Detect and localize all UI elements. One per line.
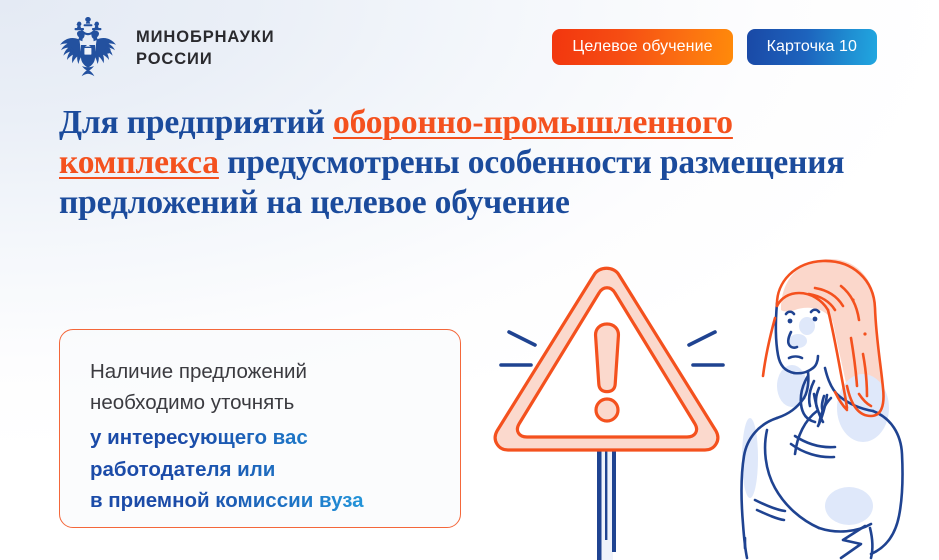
warning-triangle-sign-icon	[487, 252, 737, 560]
russian-coat-of-arms-icon	[55, 17, 121, 79]
badge-card-number[interactable]: Карточка 10	[747, 29, 877, 65]
slide-root: МИНОБРНАУКИ РОССИИ Целевое обучение Карт…	[0, 0, 939, 560]
badge-group: Целевое обучение Карточка 10	[552, 29, 877, 65]
info-card-strong-text: у интересующего вас работодателя или в п…	[90, 422, 430, 517]
ministry-name: МИНОБРНАУКИ РОССИИ	[136, 25, 275, 71]
exclamation-mark-icon	[596, 324, 619, 421]
info-card-plain-line-1: Наличие предложений	[90, 356, 430, 387]
thinking-woman-illustration	[715, 248, 939, 560]
headline-part-1: Для предприятий	[59, 104, 333, 141]
badge-topic[interactable]: Целевое обучение	[552, 29, 732, 65]
info-card-strong-line-2: работодателя или	[90, 454, 430, 486]
info-card: Наличие предложений необходимо уточнять …	[59, 329, 461, 528]
info-card-strong-line-3: в приемной комиссии вуза	[90, 485, 430, 517]
page-title: Для предприятий оборонно-промышленного к…	[59, 103, 849, 223]
slide-header: МИНОБРНАУКИ РОССИИ Целевое обучение Карт…	[0, 0, 939, 92]
ministry-brand: МИНОБРНАУКИ РОССИИ	[55, 17, 275, 79]
info-card-plain-line-2: необходимо уточнять	[90, 387, 430, 418]
info-card-strong-line-1: у интересующего вас	[90, 422, 430, 454]
